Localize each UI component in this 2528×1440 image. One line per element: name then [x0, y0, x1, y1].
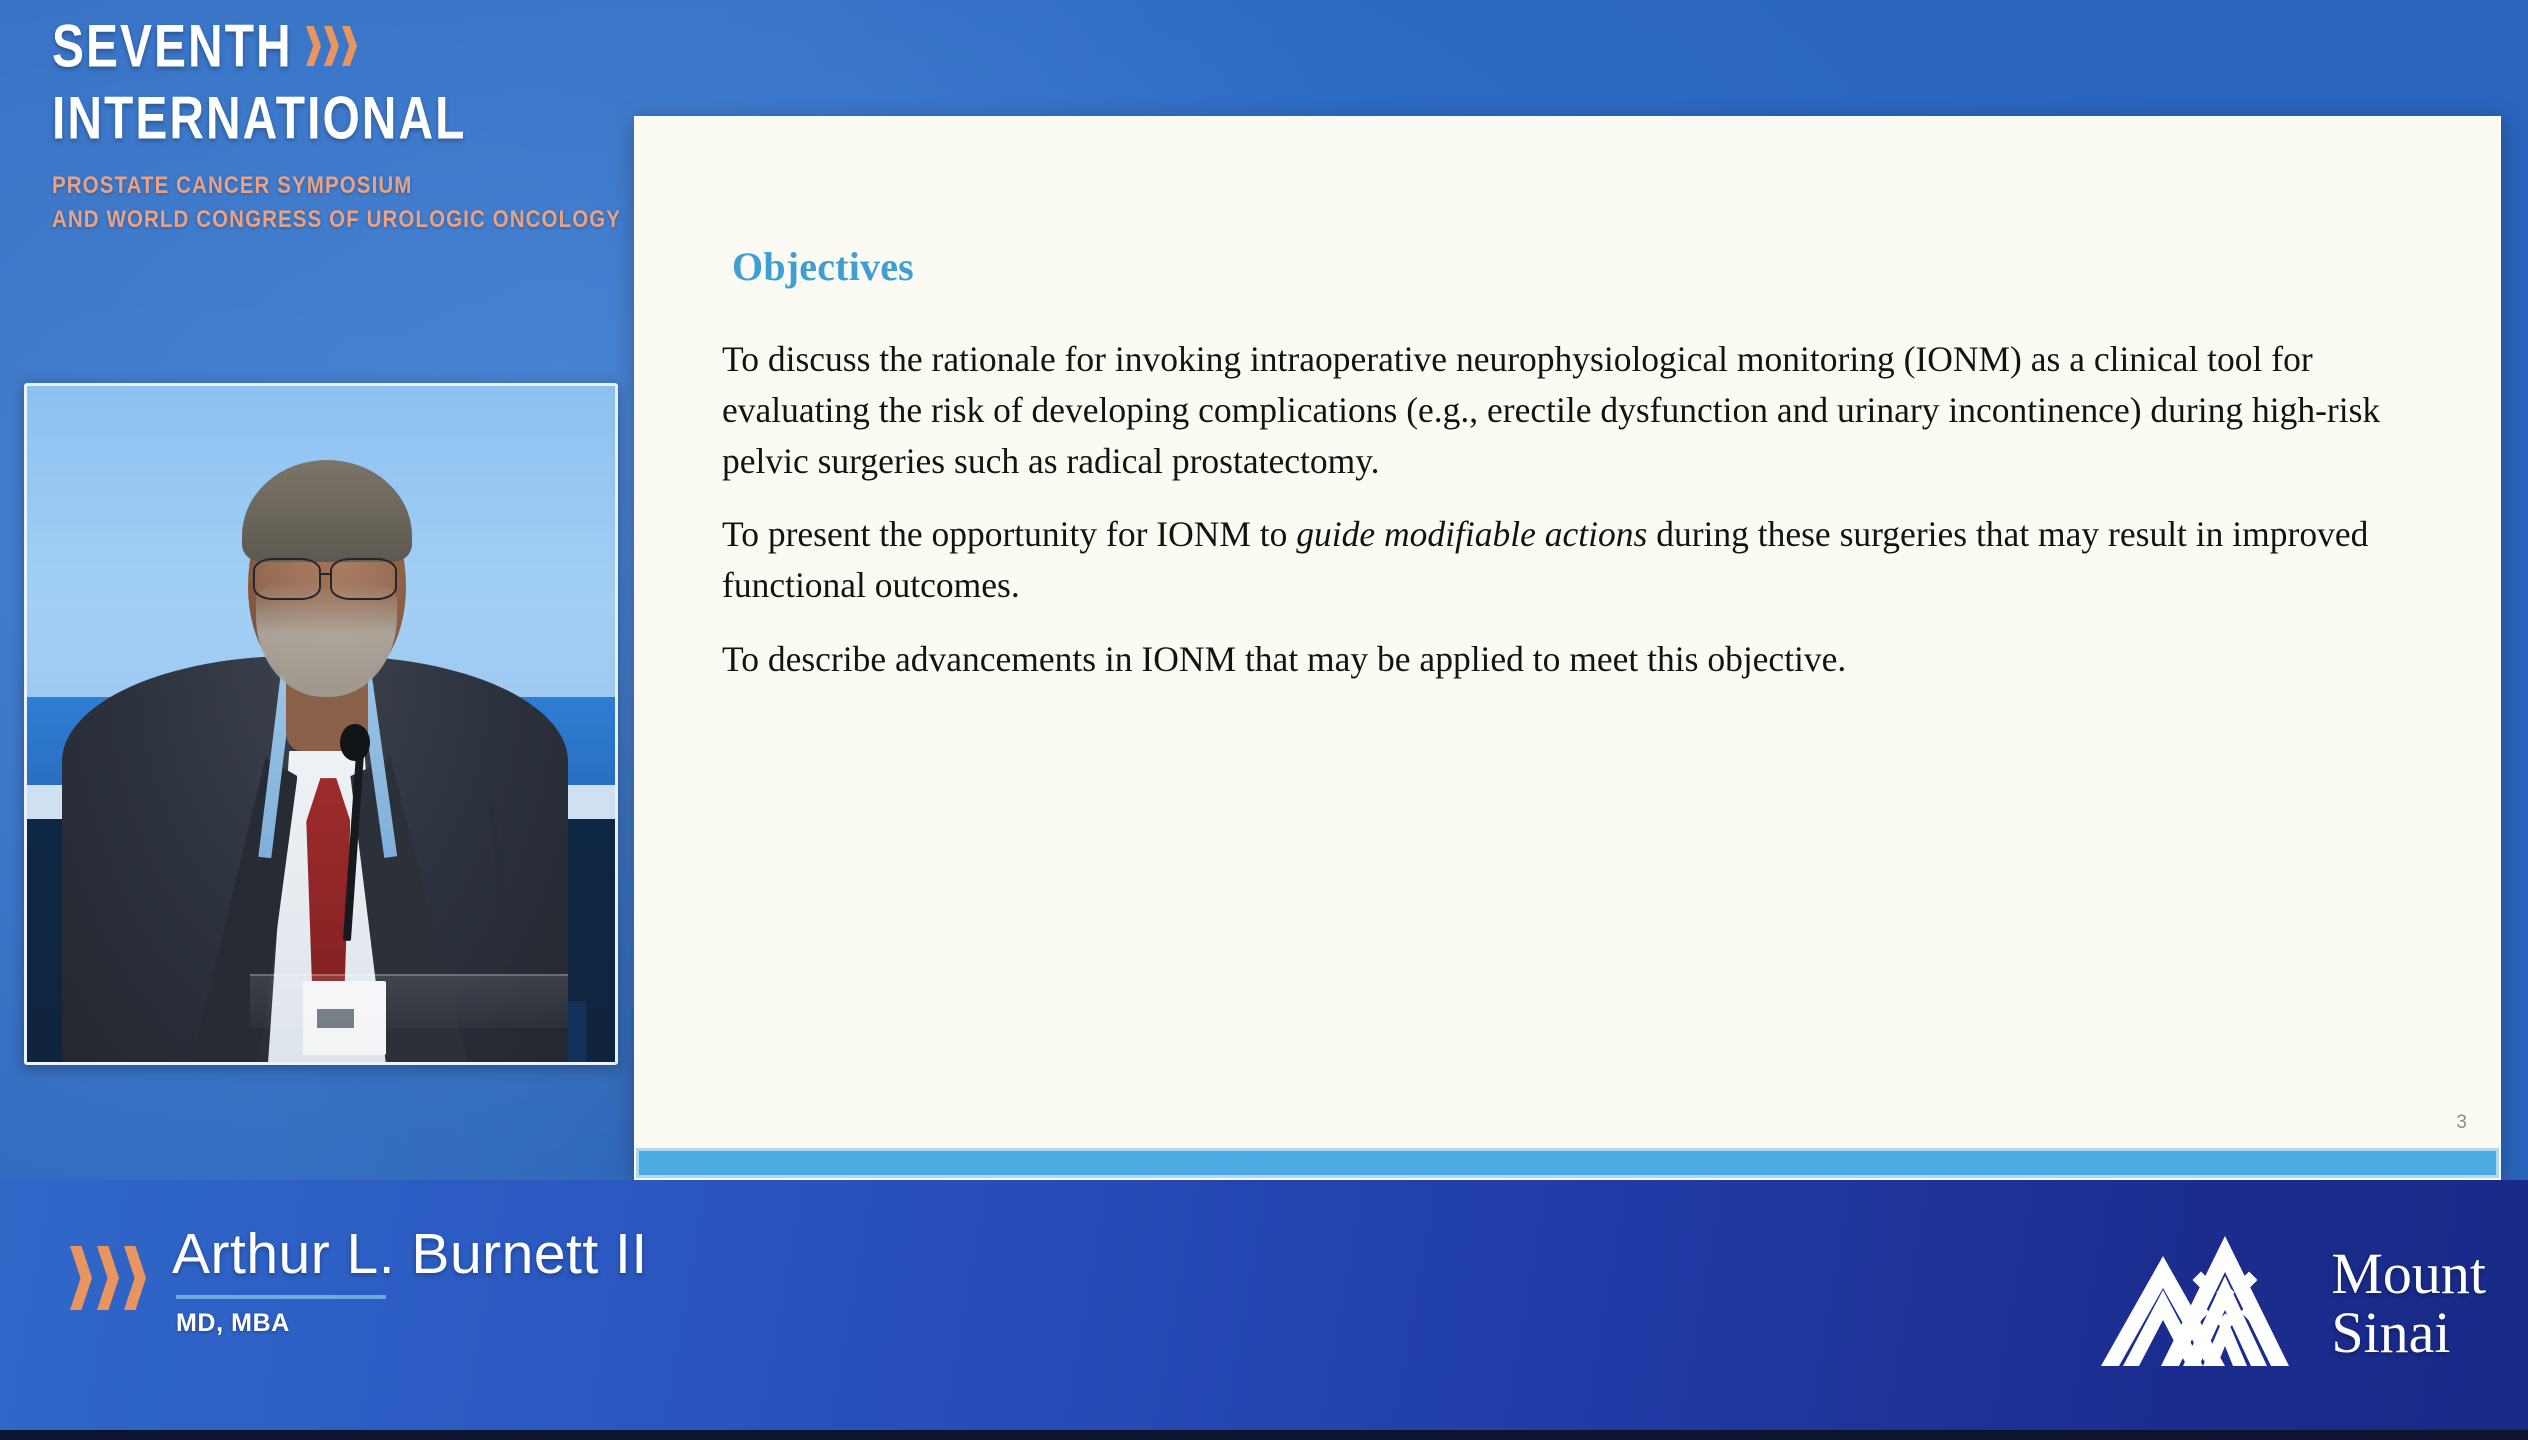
presentation-stage: SEVENTH INTERNATIONAL PROSTATE CANCER SY… [0, 0, 2528, 1440]
mount-sinai-mountain-icon [2075, 1228, 2305, 1378]
speaker-identity-block: Arthur L. Burnett II MD, MBA [70, 1226, 648, 1338]
speaker-eyeglasses-right [330, 558, 398, 600]
institution-name-line-1: Mount [2331, 1244, 2486, 1303]
slide-emphasis-text: guide modifiable actions [1296, 514, 1647, 554]
speaker-name: Arthur L. Burnett II [172, 1226, 648, 1283]
conference-subtitle-line-2: AND WORLD CONGRESS OF UROLOGIC ONCOLOGY [52, 202, 612, 236]
conference-subtitle: PROSTATE CANCER SYMPOSIUM AND WORLD CONG… [52, 168, 612, 237]
institution-name-line-2: Sinai [2331, 1303, 2486, 1362]
slide-paragraph: To present the opportunity for IONM to g… [722, 509, 2443, 611]
institution-logo: Mount Sinai [2075, 1228, 2486, 1378]
presentation-slide[interactable]: Objectives To discuss the rationale for … [634, 116, 2501, 1180]
slide-text: To present the opportunity for IONM to [722, 514, 1296, 554]
conference-title-international: INTERNATIONAL [52, 87, 623, 148]
speaker-eyeglasses-bridge [321, 573, 330, 575]
chevron-accent-icon [70, 1246, 146, 1310]
slide-body: To discuss the rationale for invoking in… [722, 334, 2443, 707]
speaker-credentials: MD, MBA [176, 1309, 648, 1338]
conference-title-line-1: SEVENTH [52, 22, 612, 70]
slide-paragraph: To discuss the rationale for invoking in… [722, 334, 2443, 487]
slide-accent-bar [636, 1148, 2499, 1178]
lower-third-band: Arthur L. Burnett II MD, MBA [0, 1180, 2528, 1440]
conference-logo: SEVENTH INTERNATIONAL PROSTATE CANCER SY… [52, 22, 612, 226]
microphone-head-icon [340, 724, 369, 761]
conference-subtitle-line-1: PROSTATE CANCER SYMPOSIUM [52, 168, 612, 202]
slide-text: To describe advancements in IONM that ma… [722, 639, 1846, 679]
slide-paragraph: To describe advancements in IONM that ma… [722, 634, 2443, 685]
institution-wordmark: Mount Sinai [2331, 1244, 2486, 1362]
speaker-video-panel[interactable] [24, 383, 618, 1065]
slide-text: To discuss the rationale for invoking in… [722, 339, 2380, 481]
podium-glass-rail [250, 974, 568, 1028]
speaker-eyeglasses-left [253, 558, 321, 600]
speaker-name-underline [176, 1295, 386, 1299]
conference-title-seventh: SEVENTH [52, 15, 293, 76]
slide-page-number: 3 [2456, 1112, 2467, 1134]
chevron-accent-icon [306, 26, 357, 66]
slide-title: Objectives [732, 243, 914, 290]
